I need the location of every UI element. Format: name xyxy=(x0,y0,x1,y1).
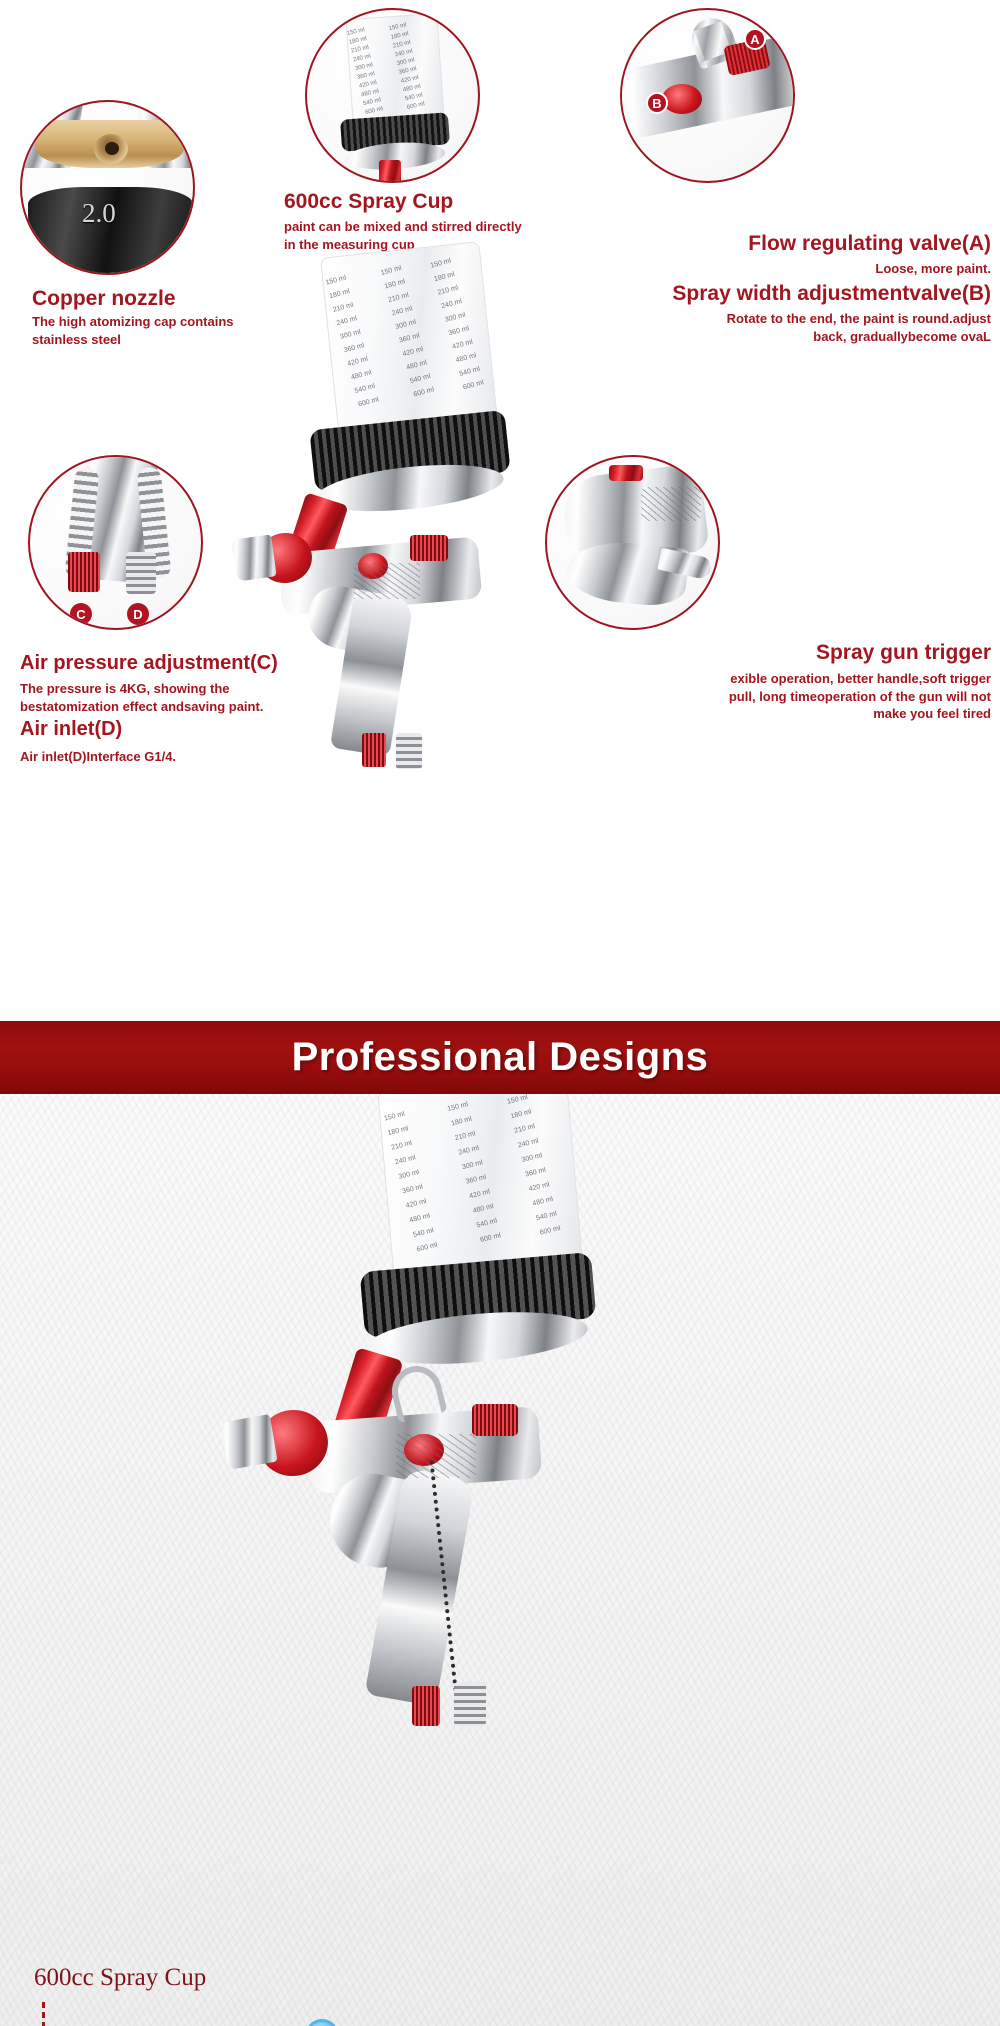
callout-title-flow-valve: Flow regulating valve(A) xyxy=(556,232,991,256)
hero-air-cap xyxy=(231,534,276,581)
professional-designs-banner: Professional Designs xyxy=(0,1021,1000,1094)
marker-badge-D: D xyxy=(127,603,149,625)
feature-callout-section: 2.0 Copper nozzle The high atomizing cap… xyxy=(0,0,1000,1021)
spray-cup-stem xyxy=(379,160,401,183)
hero-spray-gun-top: 150 ml180 ml210 ml240 ml300 ml360 ml420 … xyxy=(250,245,600,775)
hero-spray-gun-bottom: 150 ml180 ml210 ml240 ml300 ml360 ml420 … xyxy=(300,1094,720,2004)
diagram-air-pressure-knob xyxy=(412,1686,440,1726)
diagram-label-cup: 600cc Spray Cup xyxy=(34,1964,206,1992)
hotspot-cup[interactable] xyxy=(305,2019,339,2026)
callout-desc-spray-width-valve: Rotate to the end, the paint is round.ad… xyxy=(540,310,991,345)
labeled-diagram-section: 150 ml180 ml210 ml240 ml300 ml360 ml420 … xyxy=(0,1094,1000,2026)
diagram-air-inlet-fitting xyxy=(454,1682,486,1726)
callout-desc-air-inlet: Air inlet(D)Interface G1/4. xyxy=(20,748,176,766)
callout-circle-spray-cup: 150 ml180 ml210 ml240 ml300 ml360 ml420 … xyxy=(305,8,480,183)
leader-cup-vertical xyxy=(42,2002,45,2026)
callout-circle-air-ports: C D xyxy=(28,455,203,630)
callout-title-trigger: Spray gun trigger xyxy=(540,641,991,665)
marker-badge-C: C xyxy=(70,603,92,625)
trigger-red-accent xyxy=(609,465,643,481)
callout-desc-copper-nozzle: The high atomizing cap contains stainles… xyxy=(32,313,234,348)
diagram-spray-range-knob xyxy=(472,1404,518,1436)
diagram-air-cap xyxy=(220,1414,278,1470)
callout-title-air-inlet: Air inlet(D) xyxy=(20,718,122,741)
marker-badge-B: B xyxy=(646,92,668,114)
callout-desc-air-pressure: The pressure is 4KG, showing the bestato… xyxy=(20,680,263,715)
hero-handle-engraving xyxy=(354,563,420,599)
air-pressure-knob xyxy=(68,552,100,592)
banner-title: Professional Designs xyxy=(292,1035,709,1080)
callout-title-spray-cup: 600cc Spray Cup xyxy=(284,190,453,214)
air-inlet-fitting xyxy=(126,552,156,594)
callout-desc-flow-valve: Loose, more paint. xyxy=(556,260,991,278)
nozzle-size-marking: 2.0 xyxy=(82,198,116,229)
hero-air-inlet xyxy=(396,733,422,769)
callout-circle-valves: A B xyxy=(620,8,795,183)
callout-title-copper-nozzle: Copper nozzle xyxy=(32,287,176,311)
callout-title-air-pressure: Air pressure adjustment(C) xyxy=(20,652,278,675)
callout-circle-copper-nozzle: 2.0 xyxy=(20,100,195,275)
width-valve-knob xyxy=(662,84,702,114)
spray-cup-art: 150 ml180 ml210 ml240 ml300 ml360 ml420 … xyxy=(345,13,444,124)
hero-air-pressure-knob xyxy=(362,733,386,767)
engraving-art xyxy=(641,487,701,521)
marker-badge-A: A xyxy=(744,28,766,50)
hero-flow-knob xyxy=(410,535,448,561)
diagram-handle-engraving xyxy=(396,1434,476,1478)
callout-title-spray-width-valve: Spray width adjustmentvalve(B) xyxy=(540,282,991,306)
